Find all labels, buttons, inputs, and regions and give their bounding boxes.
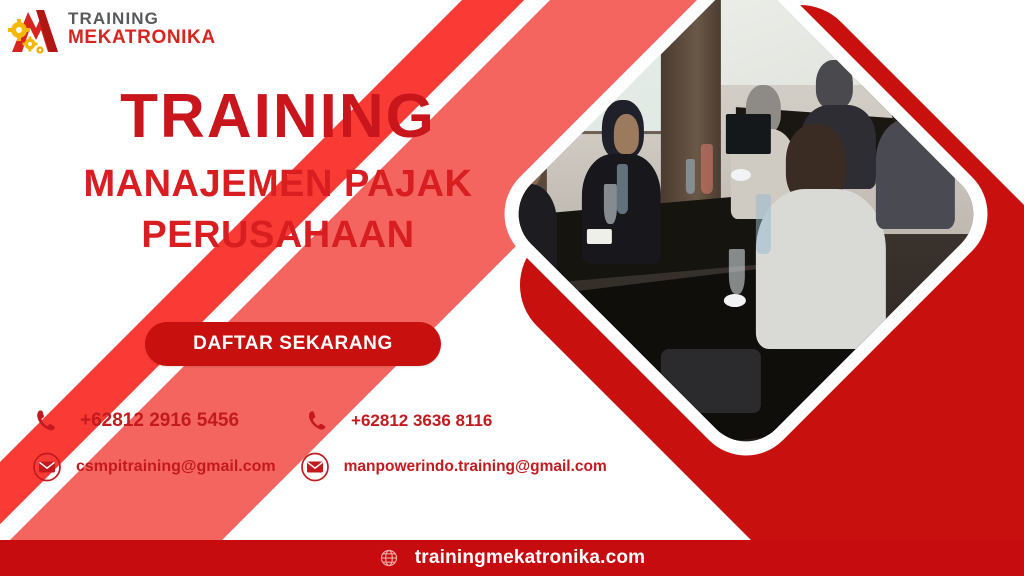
footer-bar: trainingmekatronika.com: [0, 540, 1024, 576]
phone-number-2: +62812 3636 8116: [351, 411, 492, 431]
website-url: trainingmekatronika.com: [415, 547, 646, 569]
logo-line-2: MEKATRONIKA: [68, 27, 216, 49]
phone-number-1: +62812 2916 5456: [80, 410, 239, 432]
globe-icon: [379, 548, 399, 568]
headline-block: TRAINING MANAJEMEN PAJAK PERUSAHAAN: [0, 86, 556, 259]
contact-phone-2[interactable]: +62812 3636 8116: [239, 409, 492, 433]
phone-row: +62812 2916 5456 +62812 3636 8116: [0, 398, 700, 444]
page-title: TRAINING: [0, 86, 556, 148]
envelope-icon: [298, 452, 332, 482]
logo-line-1: TRAINING: [68, 10, 216, 27]
envelope-icon: [30, 452, 64, 482]
email-address-1: csmpitraining@gmail.com: [76, 458, 276, 476]
email-address-2: manpowerindo.training@gmail.com: [344, 458, 607, 476]
brand-logo[interactable]: TRAINING MEKATRONIKA: [6, 6, 216, 58]
phone-icon: [301, 409, 335, 433]
gear-m-logo-icon: [6, 6, 64, 56]
contact-email-1[interactable]: csmpitraining@gmail.com: [0, 452, 276, 482]
email-row: csmpitraining@gmail.com manpowerindo.tra…: [0, 444, 700, 490]
phone-icon: [30, 408, 64, 434]
contact-phone-1[interactable]: +62812 2916 5456: [0, 408, 239, 434]
contact-block: +62812 2916 5456 +62812 3636 8116: [0, 398, 700, 490]
headline-subtitle-line-1: MANAJEMEN PAJAK: [0, 160, 556, 209]
contact-email-2[interactable]: manpowerindo.training@gmail.com: [276, 452, 607, 482]
headline-subtitle-line-2: PERUSAHAAN: [0, 211, 556, 260]
logo-wordmark: TRAINING MEKATRONIKA: [68, 10, 216, 49]
register-now-button[interactable]: DAFTAR SEKARANG: [145, 322, 441, 366]
promotional-banner: TRAINING MEKATRONIKA TRAINING MANAJEMEN …: [0, 0, 1024, 576]
